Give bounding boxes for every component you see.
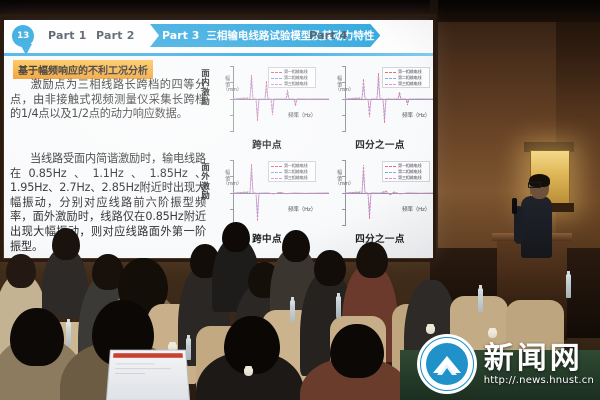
logo-mountain-icon (430, 351, 464, 377)
watermark: 新闻网 http://.news.hnust.cn (417, 334, 594, 394)
presenter-glasses-icon (528, 182, 541, 188)
presenter-body (521, 196, 552, 258)
watermark-site-name: 新闻网 (484, 343, 583, 375)
watermark-url: http://.news.hnust.cn (484, 375, 594, 386)
projection-screen-frame (0, 14, 436, 262)
hnust-logo-icon (417, 334, 477, 394)
microphone-icon (512, 198, 517, 214)
watermark-text: 新闻网 http://.news.hnust.cn (484, 343, 594, 386)
screenshot-root: 13 Part 1 Part 2 Part 3 三相输电线路试验模型及其动力特性… (0, 0, 600, 400)
